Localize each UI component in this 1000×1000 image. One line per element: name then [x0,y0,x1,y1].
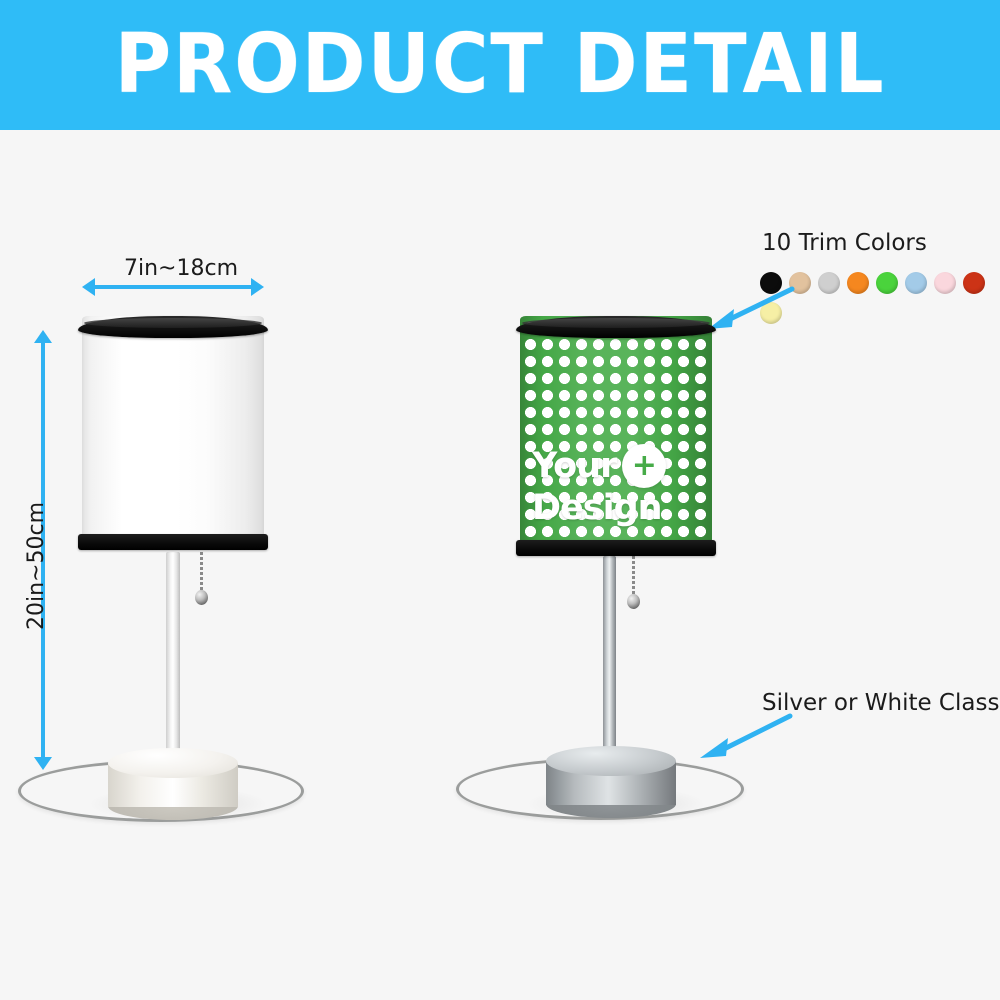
base-top [108,748,238,778]
header-banner: PRODUCT DETAIL [0,0,1000,130]
base-finish-callout-arrow [690,710,800,762]
shade-bottom-trim [516,540,716,556]
arrow-head-down-icon [34,757,52,770]
shade-surface [82,316,264,544]
white-lamp-shade [82,316,264,544]
design-placeholder-line1: Your [532,449,616,484]
pull-chain-bead[interactable] [627,594,640,609]
shade-top-trim-highlight [84,318,262,328]
shade-bottom-trim [78,534,268,550]
shade-top-trim [78,316,268,338]
trim-swatch-pink[interactable] [934,272,956,294]
design-placeholder: Your + Design [532,444,702,527]
green-lamp-pole [603,556,616,762]
width-dimension-arrow [82,278,264,296]
white-lamp-base [108,748,238,820]
trim-swatch-orange[interactable] [847,272,869,294]
pull-chain-bead[interactable] [195,590,208,605]
shade-top-trim-highlight [522,318,710,328]
add-design-badge-icon[interactable]: + [622,444,666,488]
page-title: PRODUCT DETAIL [115,24,886,106]
base-top [546,746,676,776]
white-lamp-pole [166,552,180,764]
product-detail-page: PRODUCT DETAIL 7in~18cm 20in~50cm [0,0,1000,1000]
design-placeholder-line2: Design [532,490,702,527]
trim-swatch-red[interactable] [963,272,985,294]
trim-swatch-green[interactable] [876,272,898,294]
height-dimension-label: 20in~50cm [24,502,49,630]
trim-swatch-light-blue[interactable] [905,272,927,294]
arrow-head-right-icon [251,278,264,296]
green-lamp-base [546,746,676,818]
green-lamp-shade: Your + Design [520,316,712,550]
trim-swatch-light-gray[interactable] [818,272,840,294]
shade-top-trim [516,316,716,338]
trim-colors-title: 10 Trim Colors [762,230,927,256]
arrow-bar [93,285,253,289]
